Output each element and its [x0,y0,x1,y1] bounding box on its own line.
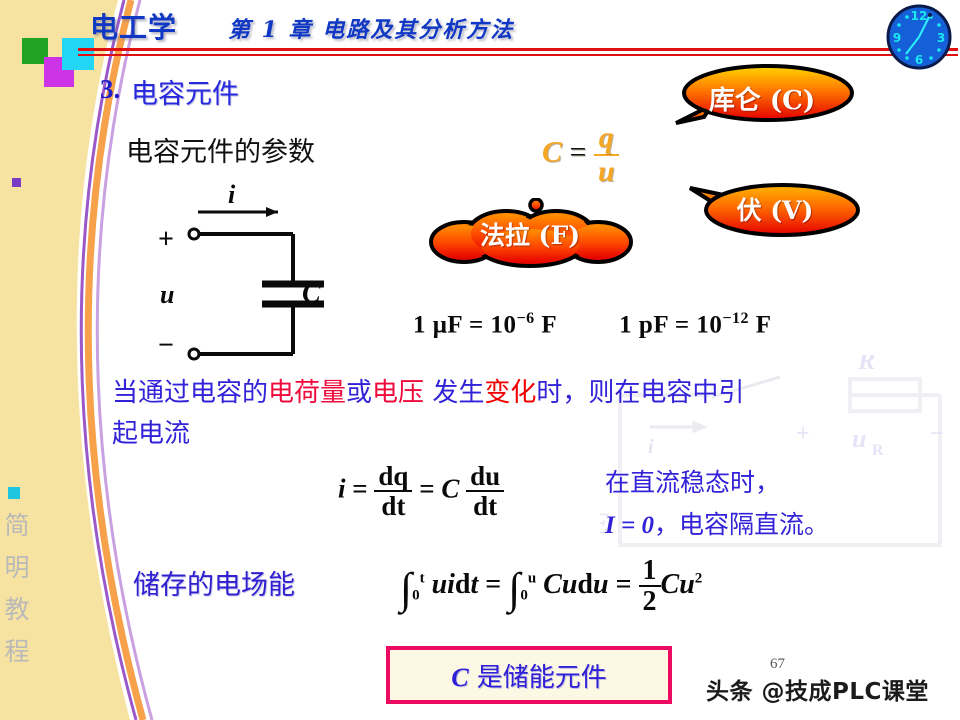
formula-unit-conversions: 1 μF = 10−6 F1 pF = 10−12 F [413,310,772,339]
dc-note-line-1: 在直流稳态时， [605,462,829,504]
sidebar-vertical-label: 简 明 教 程 [2,505,32,673]
paragraph-part-3: 发生 [424,378,484,408]
chapter-title: 第 1 章 电路及其分析方法 [228,12,514,44]
energy-du-var: u [593,569,609,600]
integral-1-lower: 0 [412,587,420,603]
svg-text:12: 12 [911,9,928,23]
slide-root: 简 明 教 程 电工学 第 1 章 电路及其分析方法 12 3 6 9 3. 电… [0,0,960,720]
formula-current: i = dq dt = C du dt [338,462,504,521]
capacitor-label: C [302,278,321,310]
callout-volt-shape [686,178,864,240]
svg-text:R: R [857,355,875,375]
svg-text:+: + [796,421,810,447]
paragraph-highlight-voltage: 电压 [372,378,424,408]
svg-text:u: u [852,424,866,453]
formula-unit-pico-value: 1 pF = 10 [619,311,722,338]
page-number: 67 [770,656,785,673]
svg-text:9: 9 [893,31,901,45]
svg-text:6: 6 [915,53,923,67]
energy-equals-2: = [616,569,632,600]
conclusion-symbol: C [451,663,468,692]
energy-dt-d: d [455,569,471,600]
svg-text:R: R [872,442,884,459]
energy-du-d: d [577,569,593,600]
dc-note-line-2: I = 0，电容隔直流。 [605,504,829,547]
formula-capacitance-numerator: q [594,122,619,154]
section-number: 3. [100,74,120,105]
formula-unit-micro-exponent: −6 [517,310,535,327]
energy-dt-var: t [471,569,479,600]
callout-coulomb-shape [664,63,860,133]
formula-unit-pico-unit: F [749,311,772,338]
formula-current-equals-2: = [419,474,434,504]
callout-coulomb: 库仑 (C) [664,63,860,133]
bullet-square-purple [12,178,21,187]
integral-sign-2: ∫ [508,564,520,613]
header-rule-bottom [78,54,958,56]
formula-current-coefficient: C [441,474,459,504]
capacitor-circuit-diagram: + − u i C [150,182,380,377]
clock-icon: 12 3 6 9 [886,4,952,70]
energy-equals-1: = [485,569,501,600]
dc-steady-state-note: 在直流稳态时， I = 0，电容隔直流。 [605,462,829,547]
integral-2-upper: u [528,570,536,586]
integral-2-lower: 0 [520,587,528,603]
energy-half-fraction: 1 2 [639,556,661,617]
dc-note-line-2-rest: ，电容隔直流。 [654,510,829,539]
formula-capacitance-equals: = [570,135,587,168]
formula-capacitance-fraction: q u [594,122,619,187]
energy-integrand-2: Cu [543,569,577,600]
circuit-svg [150,182,380,377]
formula-current-fraction-2: du dt [466,462,504,521]
stored-energy-heading: 储存的电场能 [133,563,295,602]
callout-volt: 伏 (V) [686,178,864,240]
terminal-plus-label: + [158,224,174,256]
section-title: 电容元件 [131,72,239,111]
formula-capacitance-lhs: C [542,135,562,168]
energy-integrand-1: ui [432,569,455,600]
energy-result: Cu [661,569,695,600]
paragraph-highlight-change: 变化 [484,378,536,408]
formula-current-lhs: i [338,474,346,504]
voltage-label: u [160,280,174,310]
formula-current-equals-1: = [352,474,367,504]
formula-current-fraction-1: dq dt [374,462,412,521]
formula-capacitance-denominator: u [594,154,619,188]
formula-current-den-2: dt [466,490,504,520]
explanation-paragraph: 当通过电容的电荷量或电压 发生变化时，则在电容中引起电流 [112,373,752,455]
current-label: i [228,180,235,210]
formula-unit-micro-value: 1 μF = 10 [413,311,517,338]
formula-unit-pico-exponent: −12 [722,310,749,327]
paragraph-part-1: 当通过电容的 [112,378,268,408]
integral-1-upper: t [420,570,425,586]
header-rule-top [78,48,958,51]
svg-text:−: − [930,421,944,447]
bullet-square-cyan [8,487,20,499]
conclusion-text: C 是储能元件 [451,657,607,694]
callout-farad: 法拉 (F) [424,198,636,270]
course-title: 电工学 [90,6,177,46]
energy-frac-den: 2 [639,585,661,616]
footer-watermark: 头条 @技成PLC课堂 [706,672,929,706]
conclusion-phrase: 是储能元件 [469,663,607,693]
formula-unit-micro-unit: F [535,311,558,338]
energy-frac-num: 1 [639,556,661,585]
paragraph-part-2: 或 [346,378,372,408]
formula-capacitance: C = q u [542,122,619,187]
formula-stored-energy: ∫0t uidt = ∫0u Cudu = 1 2 Cu2 [400,556,702,617]
parameter-heading: 电容元件的参数 [126,130,315,169]
integral-sign-1: ∫ [400,564,412,613]
formula-current-num-2: du [466,462,504,490]
callout-farad-shape [424,198,636,270]
energy-result-exponent: 2 [695,570,703,586]
svg-text:3: 3 [937,31,945,45]
formula-current-den-1: dt [374,490,412,520]
dc-note-formula: I = 0 [605,512,654,539]
conclusion-box: C 是储能元件 [386,646,672,704]
formula-current-num-1: dq [374,462,412,490]
terminal-minus-label: − [158,330,174,362]
paragraph-highlight-charge: 电荷量 [268,378,346,408]
